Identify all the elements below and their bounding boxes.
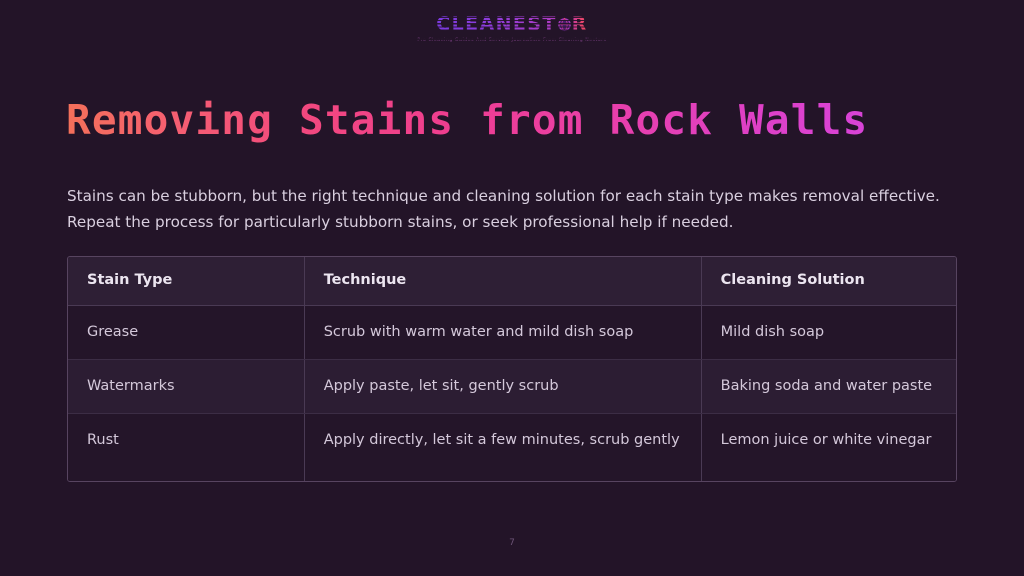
globe-icon <box>557 17 572 32</box>
brand-wordmark: CLEANEST R <box>436 15 588 34</box>
column-header-technique: Technique <box>304 257 701 305</box>
brand-logo: CLEANEST R Pro Cleaning Guides And Servi… <box>0 15 1024 43</box>
page-number: 7 <box>0 538 1024 548</box>
cell-technique: Apply directly, let sit a few minutes, s… <box>304 413 701 481</box>
cell-cleaning-solution: Baking soda and water paste <box>701 359 956 413</box>
table-header: Stain Type Technique Cleaning Solution <box>68 257 956 305</box>
brand-name-part-1: CLEANEST <box>436 15 556 34</box>
table-row: Grease Scrub with warm water and mild di… <box>68 305 956 359</box>
slide-root: CLEANEST R Pro Cleaning Guides And Servi… <box>0 0 1024 576</box>
brand-tagline: Pro Cleaning Guides And Service Journali… <box>0 38 1024 43</box>
column-header-stain-type: Stain Type <box>68 257 304 305</box>
cell-technique: Scrub with warm water and mild dish soap <box>304 305 701 359</box>
cell-stain-type: Rust <box>68 413 304 481</box>
cell-cleaning-solution: Lemon juice or white vinegar <box>701 413 956 481</box>
page-title: Removing Stains from Rock Walls <box>66 96 868 144</box>
column-header-cleaning-solution: Cleaning Solution <box>701 257 956 305</box>
cell-cleaning-solution: Mild dish soap <box>701 305 956 359</box>
table-header-row: Stain Type Technique Cleaning Solution <box>68 257 956 305</box>
table: Stain Type Technique Cleaning Solution G… <box>68 257 956 481</box>
table-row: Rust Apply directly, let sit a few minut… <box>68 413 956 481</box>
stain-removal-table: Stain Type Technique Cleaning Solution G… <box>67 256 957 482</box>
cell-technique: Apply paste, let sit, gently scrub <box>304 359 701 413</box>
brand-name-part-2: R <box>572 15 588 34</box>
table-body: Grease Scrub with warm water and mild di… <box>68 305 956 481</box>
cell-stain-type: Grease <box>68 305 304 359</box>
intro-paragraph: Stains can be stubborn, but the right te… <box>67 183 967 235</box>
cell-stain-type: Watermarks <box>68 359 304 413</box>
table-row: Watermarks Apply paste, let sit, gently … <box>68 359 956 413</box>
